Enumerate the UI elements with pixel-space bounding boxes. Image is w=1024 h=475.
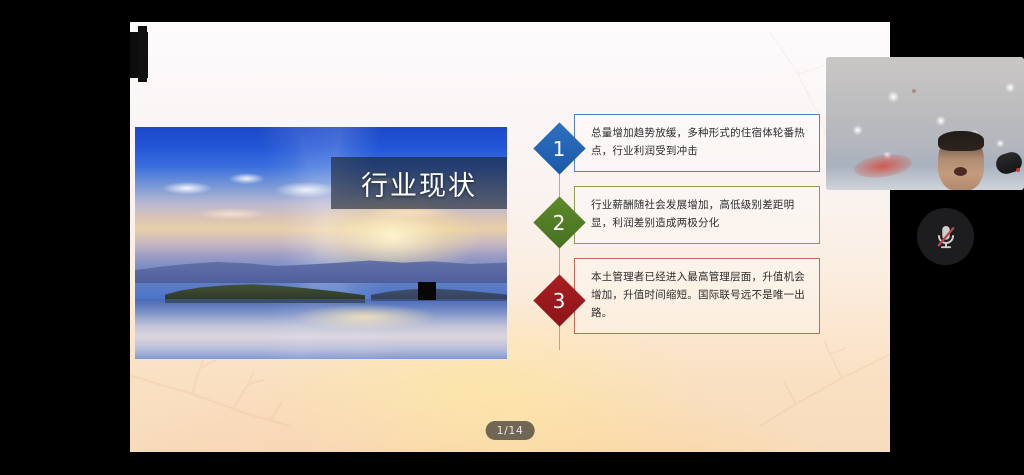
step-text-box-1: 总量增加趋势放缓，多种形式的住宿体轮番热点，行业利润受到冲击 (574, 114, 820, 172)
presentation-slide[interactable]: 行业现状 1 总量增加趋势放缓，多种形式的住宿体轮番热点，行业利润受到冲击 2 … (130, 22, 890, 452)
microphone-mute-button[interactable] (917, 208, 974, 265)
ceiling-marker-dot (912, 89, 916, 93)
step-item-1[interactable]: 1 总量增加趋势放缓，多种形式的住宿体轮番热点，行业利润受到冲击 (530, 114, 820, 172)
step-item-2[interactable]: 2 行业薪酬随社会发展增加，高低级别差距明显，利润差别造成两极分化 (530, 186, 820, 244)
step-text-2: 行业薪酬随社会发展增加，高低级别差距明显，利润差别造成两极分化 (591, 196, 807, 233)
render-artifact-bar-secondary (138, 26, 147, 82)
presenter-hair (938, 131, 984, 151)
step-number-3: 3 (553, 290, 566, 310)
step-item-3[interactable]: 3 本土管理者已经进入最高管理层面，升值机会增加，升值时间缩短。国际联号远不是唯… (530, 258, 820, 334)
step-text-3: 本土管理者已经进入最高管理层面，升值机会增加，升值时间缩短。国际联号远不是唯一出… (591, 268, 807, 323)
photo-black-square-artifact (418, 282, 436, 300)
slide-photo-title-text: 行业现状 (361, 164, 477, 203)
slide-page-indicator: 1/14 (486, 421, 535, 440)
presenter-video-feed[interactable] (826, 57, 1024, 190)
microphone-indicator-light (1016, 168, 1020, 172)
slide-photo-sunset-lake: 行业现状 (135, 127, 507, 359)
presenter-mouth (954, 167, 967, 176)
photo-water-reflection (135, 299, 507, 359)
microphone-muted-icon (931, 222, 961, 252)
slide-photo-title-band: 行业现状 (331, 157, 507, 209)
step-text-box-3: 本土管理者已经进入最高管理层面，升值机会增加，升值时间缩短。国际联号远不是唯一出… (574, 258, 820, 334)
screen-share-viewer: 行业现状 1 总量增加趋势放缓，多种形式的住宿体轮番热点，行业利润受到冲击 2 … (0, 0, 1024, 475)
step-list: 1 总量增加趋势放缓，多种形式的住宿体轮番热点，行业利润受到冲击 2 行业薪酬随… (530, 114, 820, 348)
step-text-1: 总量增加趋势放缓，多种形式的住宿体轮番热点，行业利润受到冲击 (591, 124, 807, 161)
step-text-box-2: 行业薪酬随社会发展增加，高低级别差距明显，利润差别造成两极分化 (574, 186, 820, 244)
step-number-2: 2 (553, 212, 566, 232)
step-number-1: 1 (553, 138, 566, 158)
